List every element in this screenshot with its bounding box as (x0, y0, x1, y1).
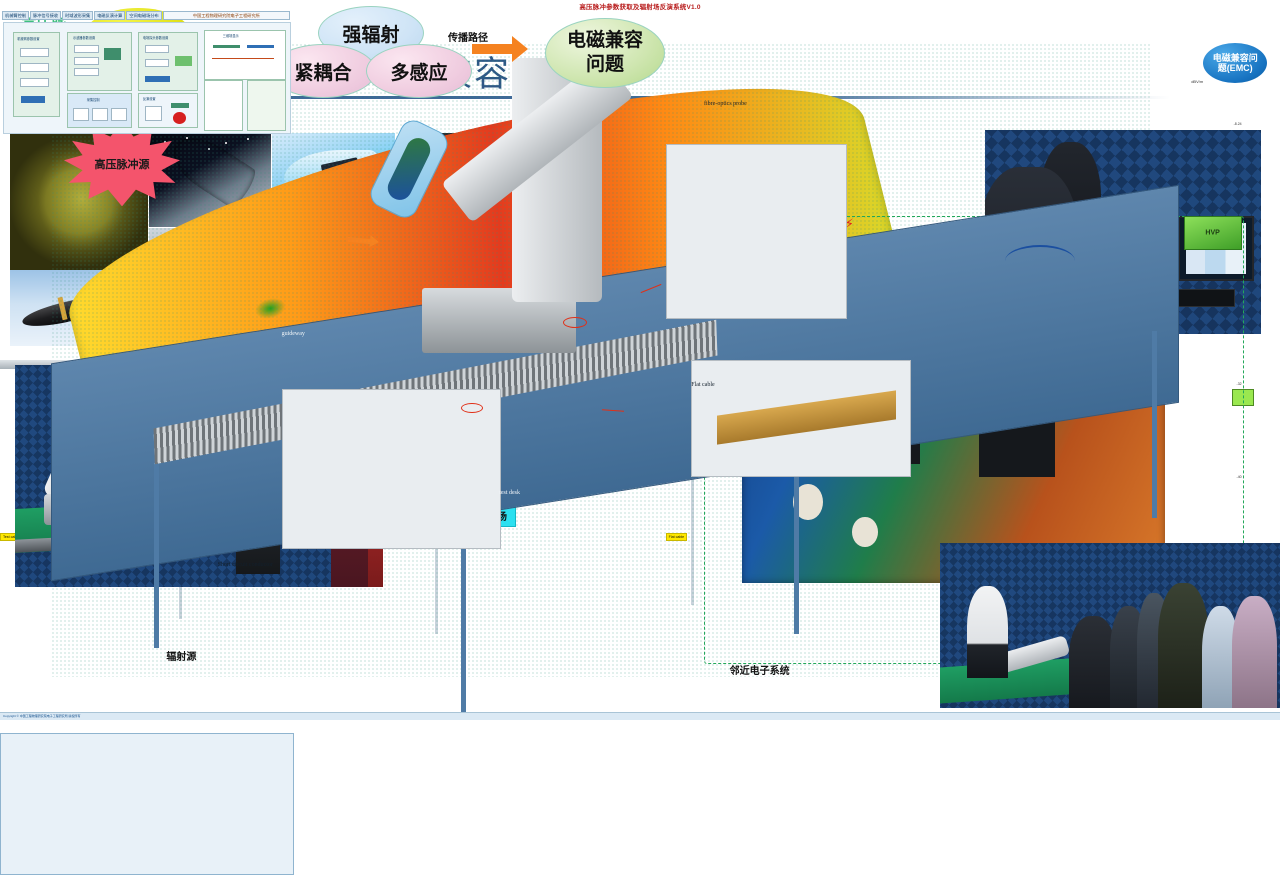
label-short-circuit-conductor: Short circuit conductor (218, 562, 264, 568)
tab-pulse-receive[interactable]: 脉冲信号接收 (30, 11, 61, 20)
panel-robot-3d-view (204, 80, 243, 130)
label-hvp: HVP (1205, 230, 1219, 237)
flow-arrow-2-icon (472, 44, 514, 54)
footer-text: Copyright © 中国工程物理研究院电子工程研究所 版权所有 (0, 713, 1280, 720)
tab-mechanical-arm[interactable]: 机械臂控制 (2, 11, 29, 20)
software-footer: Copyright © 中国工程物理研究院电子工程研究所 版权所有 (0, 712, 1280, 720)
tab-field-distribution[interactable]: 空间电磁场分布 (126, 11, 161, 20)
colorbar-tick: -8.24 (1234, 122, 1242, 126)
emc-bubble-line2: 题(EMC) (1218, 63, 1253, 73)
group-demonstration-photo (940, 543, 1280, 708)
software-body: 机械臂参数设置 示波器参数设置 采集控制 电场探头参数设置 (3, 22, 291, 134)
oval-multi-induction: 多感应 (366, 44, 472, 98)
panel-title: 机械臂参数设置 (17, 36, 39, 41)
panel-acquisition-control[interactable]: 采集控制 (67, 93, 132, 128)
emc-bubble-line1: 电磁兼容问 (1213, 53, 1258, 63)
radiation-source-label: 辐射源 (166, 648, 196, 663)
result-line1: 电磁兼容 (567, 30, 643, 51)
adjacent-electronic-system-label: 邻近电子系统 (730, 662, 790, 677)
panel-title: 采集控制 (87, 97, 100, 102)
panel-probe-params[interactable]: 电场探头参数设置 (138, 32, 197, 91)
label-test-desk: test desk (499, 490, 520, 496)
label-guideway: guideway (282, 331, 305, 337)
result-line2: 问题 (586, 54, 624, 75)
panel-scope-params[interactable]: 示波器参数设置 (67, 32, 132, 91)
emc-problem-bubble: 电磁兼容问 题(EMC) (1203, 43, 1267, 83)
org-label: 中国工程物理研究院电子工程研究所 (163, 11, 290, 20)
panel-schematic-view: 三维场显示 (204, 30, 286, 80)
panel-arm-params[interactable]: 机械臂参数设置 (13, 32, 61, 118)
oval-emc-problem: 电磁兼容 问题 (545, 18, 665, 88)
software-tab-bar[interactable]: 机械臂控制 脉冲信号接收 时域波形采集 电磁反演计算 空间电磁场分布 中国工程物… (2, 11, 290, 20)
hvp-unit-icon: HVP (1184, 216, 1242, 250)
propagation-path-label: 传播路径 (448, 29, 488, 44)
panel-fixture-3d-view (247, 80, 286, 130)
slide-root: 二、研究方向：电磁兼容 天线罩 (0, 0, 1280, 720)
tab-time-domain[interactable]: 时域波形采集 (62, 11, 93, 20)
label-flat-cable: Flat cable (666, 533, 688, 541)
panel-title: 三维场显示 (223, 33, 239, 38)
label-fibre-probe: fibre-optics probe (704, 101, 747, 107)
panel-title: 反演设置 (143, 96, 156, 101)
label-flat-cable: Flat cable (691, 382, 715, 388)
inversion-software-screenshot[interactable]: 高压脉冲参数获取及辐射场反演系统V1.0 机械臂控制 脉冲信号接收 时域波形采集… (0, 733, 294, 875)
panel-title: 示波器参数设置 (73, 35, 95, 40)
source-label: 高压脉冲源 (95, 156, 150, 172)
colorbar-title: dBV/m (1191, 79, 1203, 84)
panel-title: 电场探头参数设置 (143, 35, 169, 40)
software-title: 高压脉冲参数获取及辐射场反演系统V1.0 (0, 1, 1280, 11)
panel-inversion-settings[interactable]: 反演设置 (138, 93, 197, 128)
tab-em-inversion[interactable]: 电磁反演计算 (94, 11, 125, 20)
